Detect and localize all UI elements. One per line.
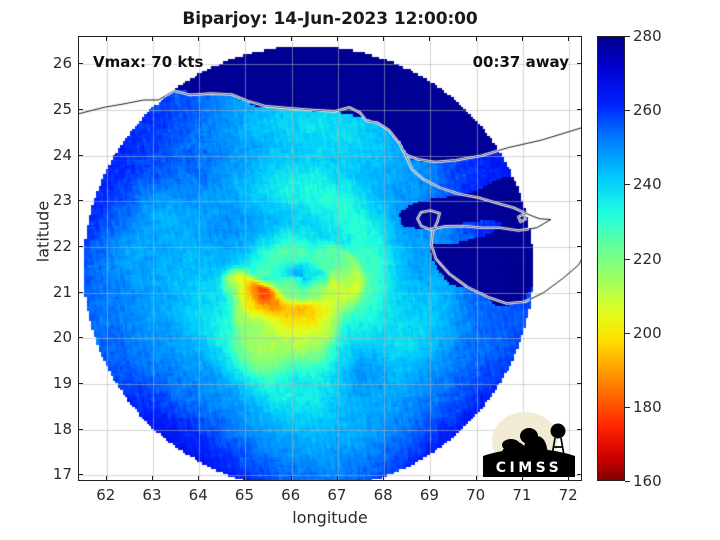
- colorbar-ticklabel-220: 220: [633, 250, 662, 268]
- colorbar-ticklabel-280: 280: [633, 27, 662, 45]
- x-tick-top-70: [476, 36, 477, 41]
- x-tick-top-62: [106, 36, 107, 41]
- y-tick-18: [78, 429, 83, 430]
- y-tick-right-21: [577, 292, 582, 293]
- time-away-annotation: 00:37 away: [473, 53, 569, 71]
- y-tick-21: [78, 292, 83, 293]
- y-tick-right-19: [577, 383, 582, 384]
- y-tick-25: [78, 109, 83, 110]
- x-tick-top-67: [337, 36, 338, 41]
- y-ticklabel-20: 20: [53, 328, 72, 346]
- y-tick-right-18: [577, 429, 582, 430]
- x-ticklabel-67: 67: [327, 486, 346, 504]
- y-tick-22: [78, 246, 83, 247]
- y-tick-19: [78, 383, 83, 384]
- y-tick-26: [78, 63, 83, 64]
- y-ticklabel-22: 22: [53, 237, 72, 255]
- x-tick-69: [429, 476, 430, 481]
- y-ticklabel-23: 23: [53, 191, 72, 209]
- y-ticklabel-18: 18: [53, 420, 72, 438]
- y-tick-right-23: [577, 200, 582, 201]
- colorbar-tick-240: [625, 184, 630, 185]
- colorbar-tick-280: [625, 36, 630, 37]
- y-ticklabel-17: 17: [53, 465, 72, 483]
- x-tick-71: [522, 476, 523, 481]
- y-tick-17: [78, 474, 83, 475]
- cimss-logo-text: CIMSS: [496, 460, 562, 476]
- colorbar-tick-160: [625, 481, 630, 482]
- y-ticklabel-21: 21: [53, 283, 72, 301]
- x-tick-top-71: [522, 36, 523, 41]
- x-tick-top-65: [244, 36, 245, 41]
- x-ticklabel-71: 71: [512, 486, 531, 504]
- x-tick-65: [244, 476, 245, 481]
- y-axis-label: latitude: [34, 172, 53, 292]
- cimss-logo: CIMSS: [467, 409, 579, 479]
- x-ticklabel-69: 69: [420, 486, 439, 504]
- x-tick-63: [152, 476, 153, 481]
- x-ticklabel-62: 62: [96, 486, 115, 504]
- y-ticklabel-25: 25: [53, 100, 72, 118]
- y-tick-right-24: [577, 155, 582, 156]
- x-ticklabel-65: 65: [235, 486, 254, 504]
- x-tick-64: [198, 476, 199, 481]
- x-tick-62: [106, 476, 107, 481]
- y-ticklabel-19: 19: [53, 374, 72, 392]
- colorbar-gradient: [598, 37, 624, 480]
- x-tick-66: [291, 476, 292, 481]
- colorbar-tick-200: [625, 333, 630, 334]
- x-tick-top-68: [383, 36, 384, 41]
- colorbar-ticklabel-240: 240: [633, 175, 662, 193]
- colorbar-tick-220: [625, 259, 630, 260]
- vmax-annotation: Vmax: 70 kts: [93, 53, 203, 71]
- y-tick-24: [78, 155, 83, 156]
- x-ticklabel-63: 63: [142, 486, 161, 504]
- y-tick-23: [78, 200, 83, 201]
- y-ticklabel-26: 26: [53, 54, 72, 72]
- y-tick-20: [78, 337, 83, 338]
- y-tick-right-26: [577, 63, 582, 64]
- x-axis-label: longitude: [78, 508, 582, 527]
- colorbar-ticklabel-180: 180: [633, 398, 662, 416]
- x-ticklabel-68: 68: [374, 486, 393, 504]
- x-ticklabel-64: 64: [189, 486, 208, 504]
- y-tick-right-25: [577, 109, 582, 110]
- colorbar-ticklabel-160: 160: [633, 472, 662, 490]
- figure-root: Biparjoy: 14-Jun-2023 12:00:00 Vmax: 70 …: [0, 0, 720, 540]
- x-tick-top-72: [568, 36, 569, 41]
- colorbar-tick-260: [625, 110, 630, 111]
- page-title: Biparjoy: 14-Jun-2023 12:00:00: [78, 9, 582, 29]
- x-tick-top-69: [429, 36, 430, 41]
- x-ticklabel-72: 72: [559, 486, 578, 504]
- x-ticklabel-70: 70: [466, 486, 485, 504]
- x-tick-top-63: [152, 36, 153, 41]
- plot-axes[interactable]: Vmax: 70 kts 00:37 away CIMSS: [78, 36, 582, 481]
- x-tick-70: [476, 476, 477, 481]
- colorbar-tick-180: [625, 407, 630, 408]
- x-tick-72: [568, 476, 569, 481]
- x-tick-top-66: [291, 36, 292, 41]
- x-tick-top-64: [198, 36, 199, 41]
- y-tick-right-22: [577, 246, 582, 247]
- x-tick-68: [383, 476, 384, 481]
- y-tick-right-17: [577, 474, 582, 475]
- x-ticklabel-66: 66: [281, 486, 300, 504]
- colorbar[interactable]: [597, 36, 625, 481]
- colorbar-ticklabel-260: 260: [633, 101, 662, 119]
- y-tick-right-20: [577, 337, 582, 338]
- x-tick-67: [337, 476, 338, 481]
- y-ticklabel-24: 24: [53, 146, 72, 164]
- colorbar-ticklabel-200: 200: [633, 324, 662, 342]
